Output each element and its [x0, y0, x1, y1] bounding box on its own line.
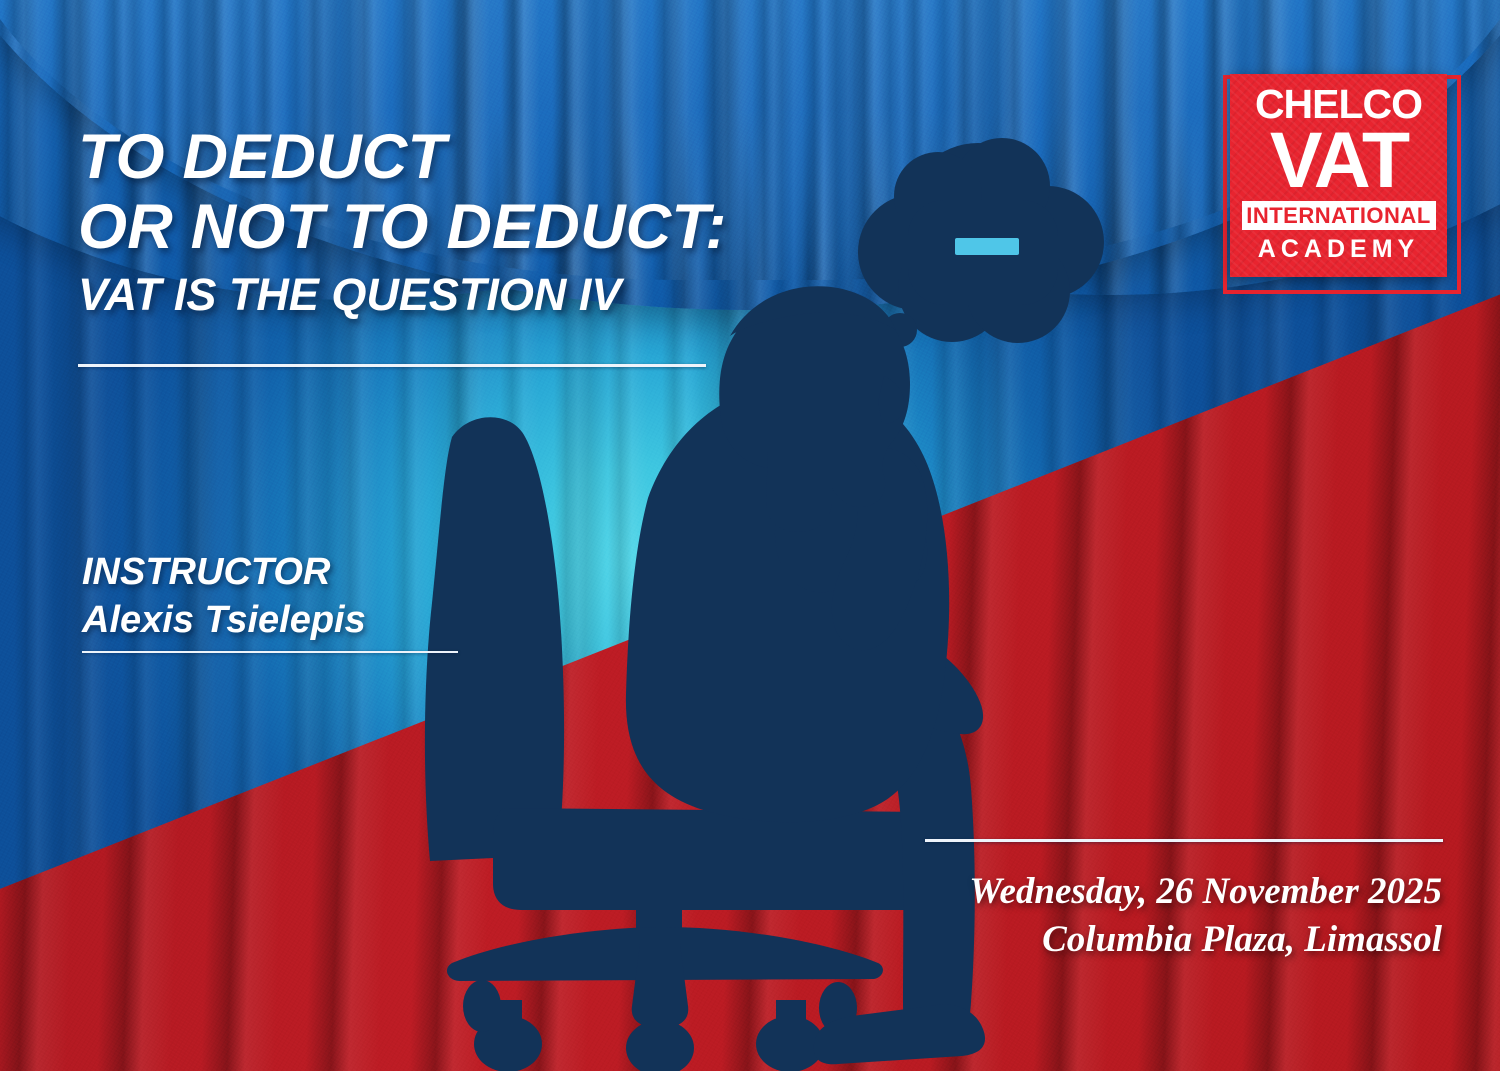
title-divider	[78, 364, 706, 367]
logo-international-text: INTERNATIONAL	[1246, 205, 1431, 227]
event-details-block: Wednesday, 26 November 2025 Columbia Pla…	[969, 868, 1442, 964]
instructor-name: Alexis Tsielepis	[82, 596, 366, 644]
title-line-1: TO DEDUCT	[78, 122, 918, 192]
event-divider	[925, 839, 1443, 842]
instructor-label: INSTRUCTOR	[82, 548, 366, 596]
event-date: Wednesday, 26 November 2025	[969, 868, 1442, 916]
chelco-vat-logo: CHELCO VAT INTERNATIONAL ACADEMY	[1209, 61, 1461, 294]
instructor-divider	[82, 651, 458, 653]
event-poster: TO DEDUCT OR NOT TO DEDUCT: VAT IS THE Q…	[0, 0, 1500, 1071]
logo-international-bar: INTERNATIONAL	[1242, 201, 1436, 230]
title-line-2: OR NOT TO DEDUCT:	[78, 192, 918, 262]
bubble-dash-icon	[955, 238, 1019, 255]
logo-square: CHELCO VAT INTERNATIONAL ACADEMY	[1230, 74, 1447, 277]
logo-academy-text: ACADEMY	[1258, 234, 1419, 264]
title-subtitle: VAT IS THE QUESTION IV	[78, 268, 918, 322]
event-venue: Columbia Plaza, Limassol	[969, 916, 1442, 964]
instructor-block: INSTRUCTOR Alexis Tsielepis	[82, 548, 366, 644]
logo-product: VAT	[1270, 123, 1407, 197]
title-block: TO DEDUCT OR NOT TO DEDUCT: VAT IS THE Q…	[78, 122, 918, 322]
